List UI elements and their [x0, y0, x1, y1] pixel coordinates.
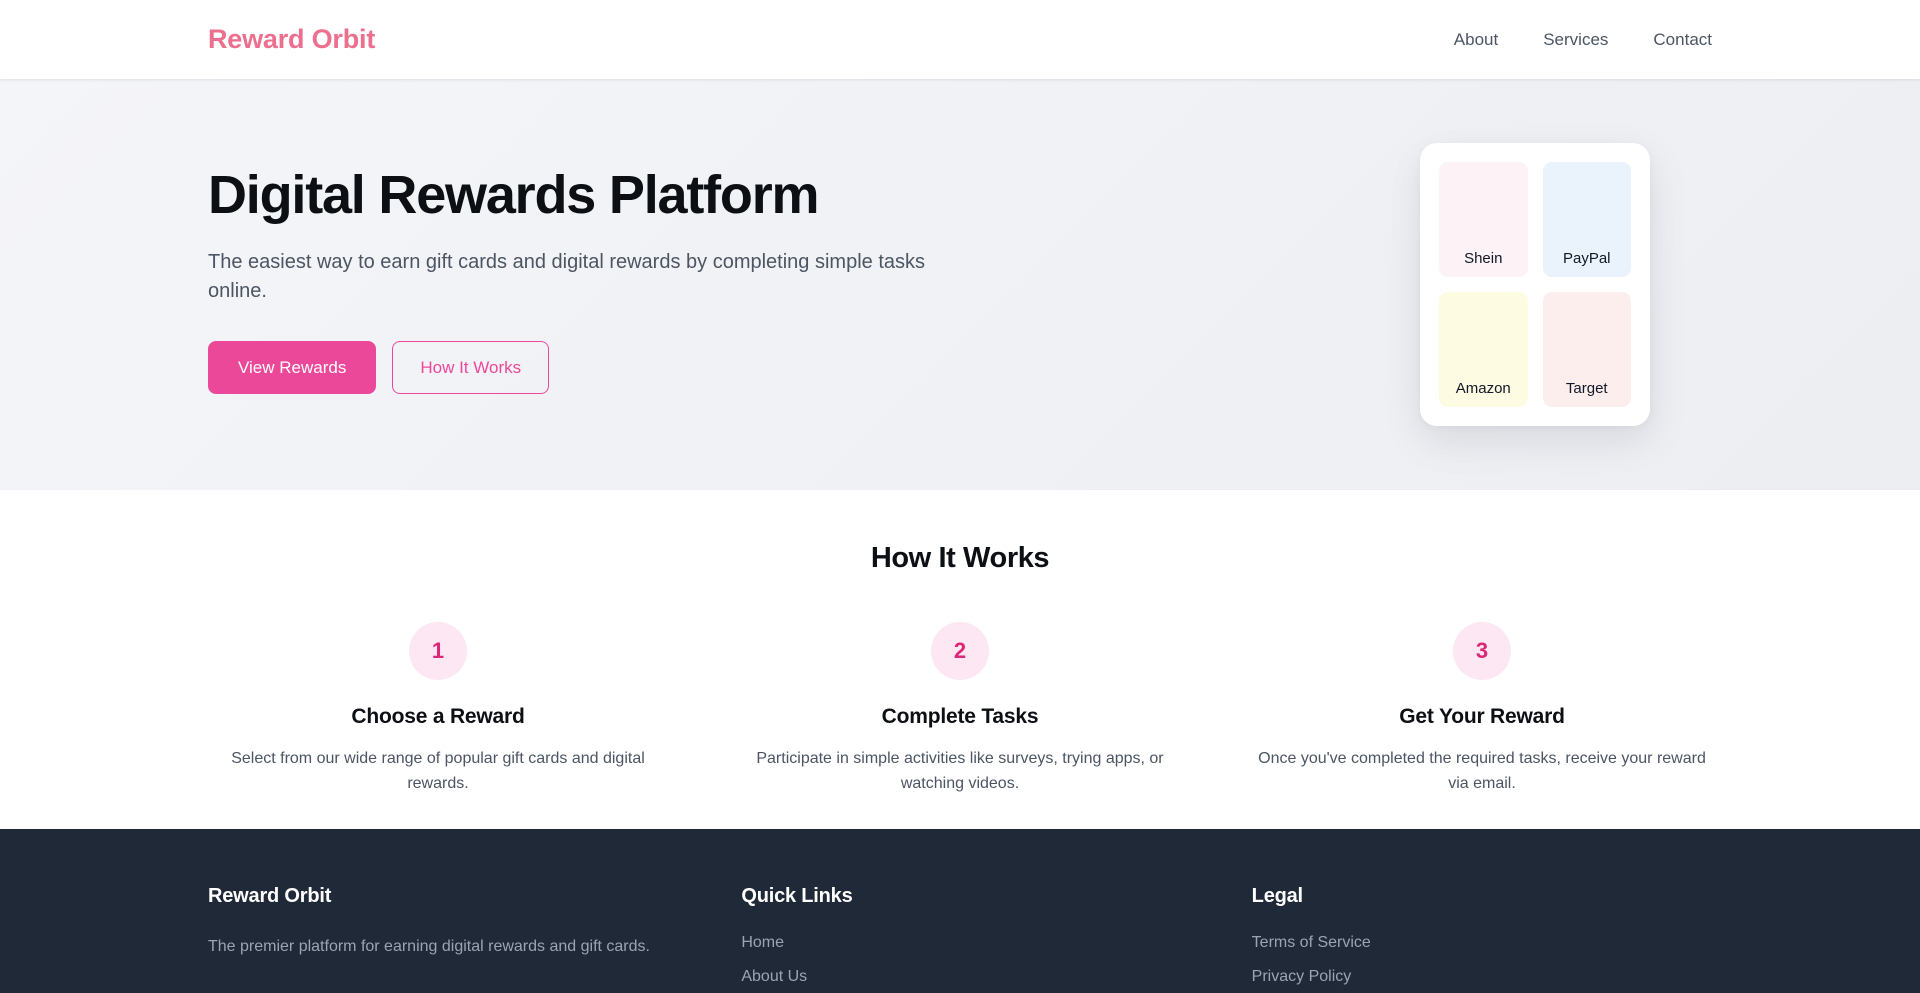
nav-link-contact[interactable]: Contact: [1653, 31, 1712, 48]
step-item-3: 3 Get Your Reward Once you've completed …: [1252, 622, 1712, 797]
reward-tile-amazon[interactable]: Amazon: [1439, 292, 1528, 407]
footer-about-column: Reward Orbit The premier platform for ea…: [208, 885, 691, 993]
hero-subtitle: The easiest way to earn gift cards and d…: [208, 248, 933, 306]
footer-grid: Reward Orbit The premier platform for ea…: [208, 885, 1712, 993]
footer-legal-column: Legal Terms of Service Privacy Policy Co…: [1252, 885, 1712, 993]
step-description: Select from our wide range of popular gi…: [208, 747, 668, 797]
how-it-works-button[interactable]: How It Works: [392, 341, 549, 394]
reward-tile-paypal[interactable]: PayPal: [1543, 162, 1632, 277]
step-number-badge: 2: [931, 622, 989, 680]
brand-logo[interactable]: Reward Orbit: [208, 26, 375, 53]
footer-about-text: The premier platform for earning digital…: [208, 934, 678, 960]
footer-quick-links-column: Quick Links Home About Us Reward Brands: [741, 885, 1201, 993]
main-navigation: About Services Contact: [1454, 31, 1712, 48]
list-item: Home: [741, 934, 1201, 952]
hero-visual: Shein PayPal Amazon Target: [1420, 143, 1650, 426]
footer-link-home[interactable]: Home: [741, 934, 784, 951]
reward-tile-target[interactable]: Target: [1543, 292, 1632, 407]
list-item: Terms of Service: [1252, 934, 1712, 952]
page-root: Reward Orbit About Services Contact Digi…: [0, 0, 1920, 993]
footer-link-terms-of-service[interactable]: Terms of Service: [1252, 934, 1371, 951]
reward-tile-label: Target: [1566, 381, 1608, 396]
footer-legal-links-list: Terms of Service Privacy Policy Cookie P…: [1252, 934, 1712, 993]
reward-tile-label: Shein: [1464, 251, 1502, 266]
hero-inner: Digital Rewards Platform The easiest way…: [0, 79, 1920, 490]
footer-quick-links-list: Home About Us Reward Brands: [741, 934, 1201, 993]
step-item-2: 2 Complete Tasks Participate in simple a…: [730, 622, 1190, 797]
nav-link-services[interactable]: Services: [1543, 31, 1608, 48]
step-number-badge: 3: [1453, 622, 1511, 680]
step-title: Complete Tasks: [730, 705, 1190, 729]
footer-quick-links-heading: Quick Links: [741, 885, 1201, 908]
step-title: Choose a Reward: [208, 705, 668, 729]
hero-section: Digital Rewards Platform The easiest way…: [0, 79, 1920, 490]
step-description: Participate in simple activities like su…: [730, 747, 1190, 797]
reward-tile-label: PayPal: [1563, 251, 1611, 266]
reward-tile-shein[interactable]: Shein: [1439, 162, 1528, 277]
step-item-1: 1 Choose a Reward Select from our wide r…: [208, 622, 668, 797]
list-item: Privacy Policy: [1252, 968, 1712, 986]
reward-brands-panel: Shein PayPal Amazon Target: [1420, 143, 1650, 426]
list-item: About Us: [741, 968, 1201, 986]
site-footer: Reward Orbit The premier platform for ea…: [0, 829, 1920, 993]
view-rewards-button[interactable]: View Rewards: [208, 341, 376, 394]
footer-legal-heading: Legal: [1252, 885, 1712, 908]
hero-title: Digital Rewards Platform: [208, 165, 933, 225]
how-it-works-section: How It Works 1 Choose a Reward Select fr…: [0, 490, 1920, 829]
footer-link-about-us[interactable]: About Us: [741, 968, 807, 985]
header-inner: Reward Orbit About Services Contact: [0, 0, 1920, 79]
hero-actions: View Rewards How It Works: [208, 341, 933, 394]
step-title: Get Your Reward: [1252, 705, 1712, 729]
how-it-works-title: How It Works: [208, 542, 1712, 575]
steps-row: 1 Choose a Reward Select from our wide r…: [208, 622, 1712, 797]
step-description: Once you've completed the required tasks…: [1252, 747, 1712, 797]
reward-tile-label: Amazon: [1456, 381, 1511, 396]
footer-brand: Reward Orbit: [208, 885, 691, 908]
footer-link-privacy-policy[interactable]: Privacy Policy: [1252, 968, 1352, 985]
hero-copy: Digital Rewards Platform The easiest way…: [208, 165, 933, 403]
site-header: Reward Orbit About Services Contact: [0, 0, 1920, 79]
nav-link-about[interactable]: About: [1454, 31, 1498, 48]
step-number-badge: 1: [409, 622, 467, 680]
